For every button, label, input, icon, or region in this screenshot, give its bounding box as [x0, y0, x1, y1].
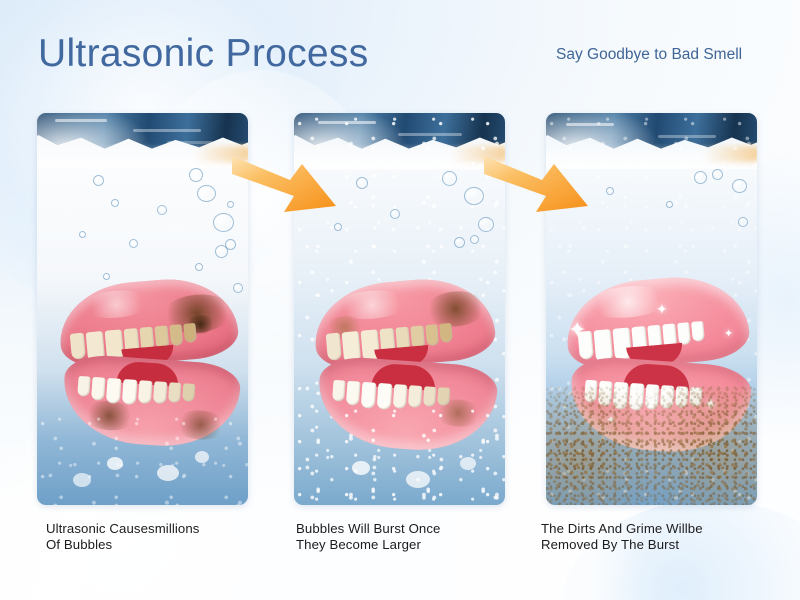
tooth: [169, 324, 183, 346]
tooth: [677, 322, 691, 345]
foam-blob: [73, 473, 91, 487]
tooth: [138, 380, 153, 404]
micro-bubble: [175, 225, 177, 227]
panel-2-caption: Bubbles Will Burst Once They Become Larg…: [296, 521, 526, 552]
tooth: [106, 378, 122, 404]
tooth: [153, 381, 168, 404]
foam-blob: [195, 451, 209, 463]
bubble: [470, 235, 479, 244]
panel-1-caption: Ultrasonic Causesmillions Of Bubbles: [46, 521, 276, 552]
bubble: [213, 213, 234, 232]
water-surface: [37, 113, 248, 169]
foam-blob: [460, 457, 476, 470]
water-highlight-streak: [55, 119, 107, 122]
tooth: [91, 377, 106, 401]
bubble: [442, 171, 457, 186]
panel-2-image: [294, 113, 505, 505]
bubble: [712, 169, 723, 180]
panel-1-scene: [37, 113, 248, 505]
panel-row: ✦ ✦ ✦ ✦ ✦: [0, 0, 800, 600]
water-surface-amber-tint: [194, 146, 248, 162]
bubble: [103, 273, 110, 280]
tooth: [439, 323, 453, 343]
bubble: [738, 217, 748, 227]
stain-patch: [423, 289, 487, 329]
bubble: [129, 239, 138, 248]
bubble-field: [294, 405, 505, 505]
bubble: [233, 283, 243, 293]
tooth: [691, 321, 705, 342]
micro-bubble: [67, 209, 69, 211]
bubble: [227, 201, 234, 208]
bubble: [478, 217, 494, 232]
foam-blob: [352, 461, 370, 475]
caption-line: Removed By The Burst: [541, 537, 771, 553]
bubble: [157, 205, 167, 215]
caption-line: Ultrasonic Causesmillions: [46, 521, 276, 537]
bubble: [93, 175, 104, 186]
water-highlight-streak: [133, 129, 201, 132]
bubble: [189, 168, 203, 182]
bubble: [195, 263, 203, 271]
bubble: [454, 237, 465, 248]
foam-blob: [406, 471, 430, 488]
bubble: [356, 177, 368, 189]
tooth: [425, 324, 439, 346]
panel-3-scene: ✦ ✦ ✦ ✦ ✦: [546, 113, 757, 505]
bubble: [111, 199, 119, 207]
bubble: [390, 209, 400, 219]
bubble: [606, 187, 614, 195]
panel-2-scene: [294, 113, 505, 505]
tooth: [346, 381, 361, 406]
bubble: [666, 201, 673, 208]
caption-line: The Dirts And Grime Willbe: [541, 521, 771, 537]
caption-line: Bubbles Will Burst Once: [296, 521, 526, 537]
tooth: [326, 333, 342, 361]
foam-blob: [107, 457, 123, 470]
tooth: [182, 383, 195, 402]
foam-blob: [157, 465, 179, 481]
micro-bubble: [149, 183, 151, 185]
panel-1-image: [37, 113, 248, 505]
tooth: [168, 382, 181, 403]
tooth: [183, 323, 197, 343]
caption-line: Of Bubbles: [46, 537, 276, 553]
tooth: [437, 387, 450, 406]
bubble: [464, 187, 484, 205]
bubble: [732, 179, 747, 193]
caption-line: They Become Larger: [296, 537, 526, 553]
tooth: [332, 380, 345, 402]
tooth: [70, 333, 86, 360]
tooth: [578, 331, 594, 360]
bubble: [225, 239, 236, 250]
panel-3-image: ✦ ✦ ✦ ✦ ✦: [546, 113, 757, 505]
infographic-canvas: Ultrasonic Process Say Goodbye to Bad Sm…: [0, 0, 800, 600]
bubble: [334, 223, 342, 231]
tooth: [77, 376, 90, 397]
tooth: [122, 379, 138, 405]
bubble: [79, 231, 86, 238]
bubble: [197, 185, 216, 202]
bubble-field: [37, 413, 248, 505]
panel-3-caption: The Dirts And Grime Willbe Removed By Th…: [541, 521, 771, 552]
tooth: [423, 386, 436, 407]
dirt-particles: [546, 385, 757, 505]
bubble: [694, 171, 707, 184]
